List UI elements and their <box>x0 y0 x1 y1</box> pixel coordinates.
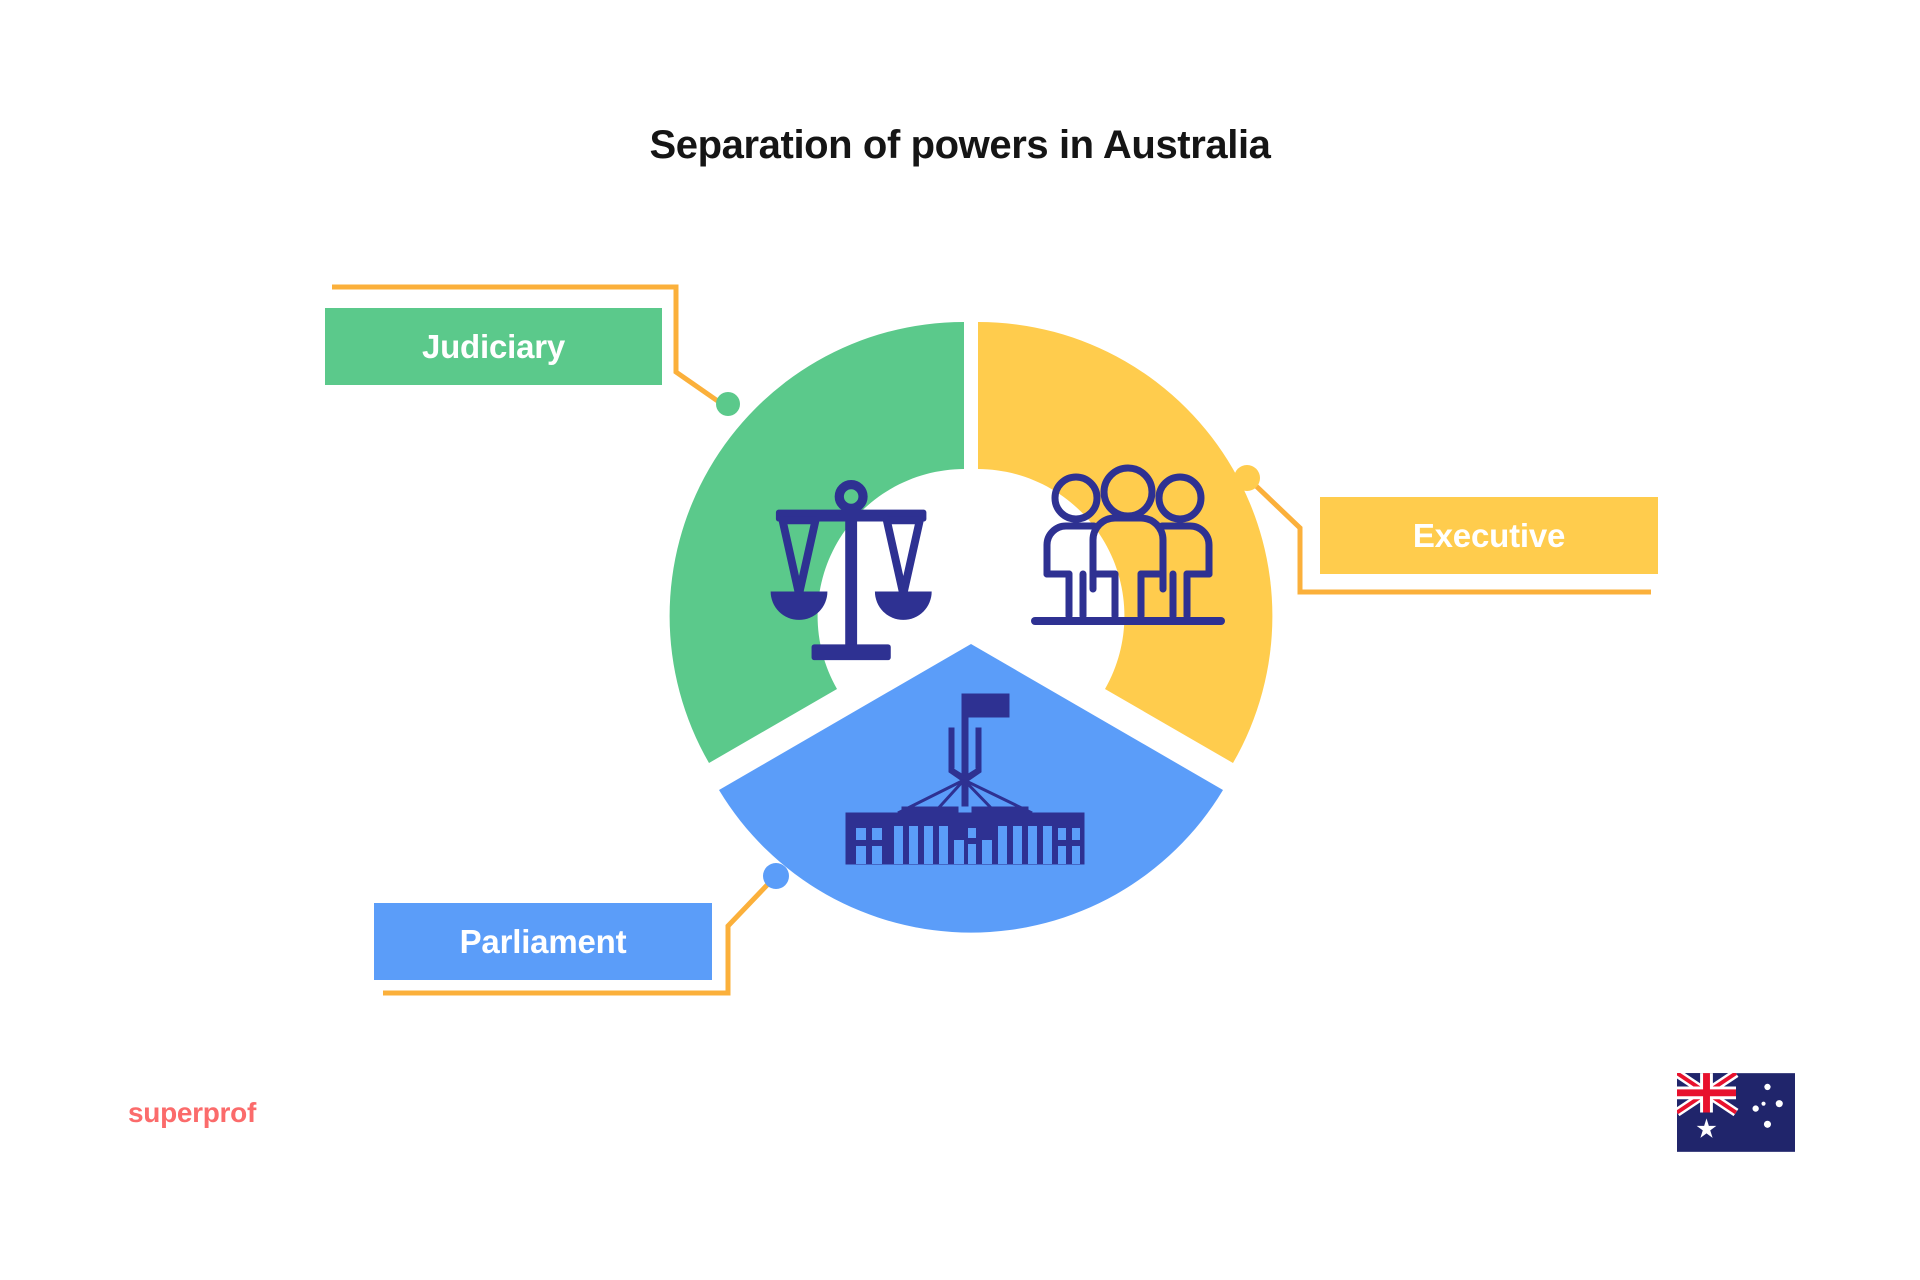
connector-dot-executive <box>1234 465 1260 491</box>
infographic-canvas: Separation of powers in Australia <box>0 0 1920 1280</box>
diagram-svg <box>0 0 1920 1280</box>
australian-flag <box>1677 1073 1795 1152</box>
label-chip-judiciary-text: Judiciary <box>422 328 565 366</box>
connector-dot-judiciary <box>716 392 740 416</box>
label-chip-parliament-text: Parliament <box>460 923 627 961</box>
superprof-logo[interactable]: superprof <box>128 1097 256 1129</box>
label-chip-executive-text: Executive <box>1413 517 1565 555</box>
label-chip-parliament[interactable]: Parliament <box>374 903 712 980</box>
connector-dot-parliament <box>763 863 789 889</box>
separation-of-powers-diagram: Judiciary Executive Parliament <box>0 0 1920 1280</box>
label-chip-executive[interactable]: Executive <box>1320 497 1658 574</box>
label-chip-judiciary[interactable]: Judiciary <box>325 308 662 385</box>
